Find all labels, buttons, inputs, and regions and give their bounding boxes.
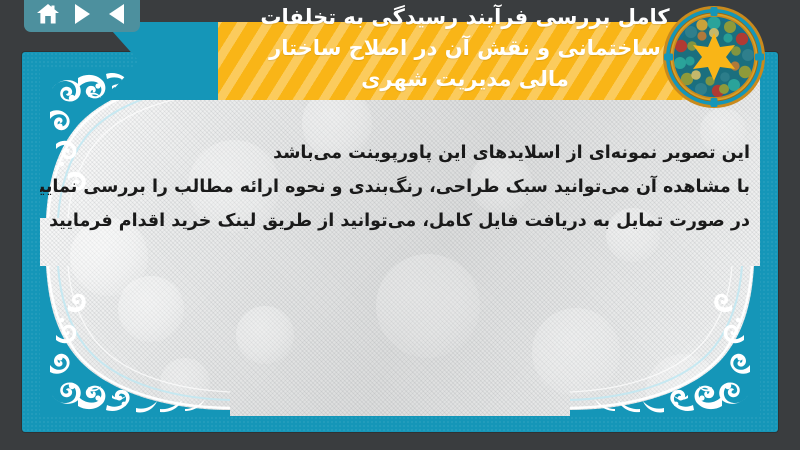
body-line-1: این تصویر نمونه‌ای از اسلایدهای این پاور… — [90, 136, 750, 170]
background-texture — [40, 68, 760, 416]
body-line-3: در صورت تمایل به دریافت فایل کامل، می‌تو… — [90, 204, 750, 238]
slide-card: این تصویر نمونه‌ای از اسلایدهای این پاور… — [22, 52, 778, 432]
home-button[interactable] — [35, 2, 61, 26]
slide-body-text: این تصویر نمونه‌ای از اسلایدهای این پاور… — [90, 136, 750, 238]
bokeh-circle — [376, 254, 480, 358]
next-slide-button[interactable] — [69, 2, 95, 26]
bokeh-circle — [160, 358, 210, 408]
arabesque-corner-ornament — [570, 266, 760, 416]
slide-navigation — [24, 0, 140, 32]
bokeh-circle — [236, 306, 294, 364]
slide-viewer: این تصویر نمونه‌ای از اسلایدهای این پاور… — [0, 0, 800, 450]
prev-slide-button[interactable] — [103, 2, 129, 26]
body-line-2: با مشاهده آن می‌توانید سبک طراحی، رنگ‌بن… — [90, 170, 750, 204]
bokeh-circle — [532, 308, 620, 396]
bokeh-circle — [118, 276, 184, 342]
triangle-right-icon — [75, 4, 90, 24]
triangle-left-icon — [109, 4, 124, 24]
home-icon — [36, 3, 60, 25]
arabesque-corner-ornament — [40, 266, 230, 416]
slide-content-panel: این تصویر نمونه‌ای از اسلایدهای این پاور… — [40, 68, 760, 416]
bokeh-circle — [646, 354, 720, 416]
